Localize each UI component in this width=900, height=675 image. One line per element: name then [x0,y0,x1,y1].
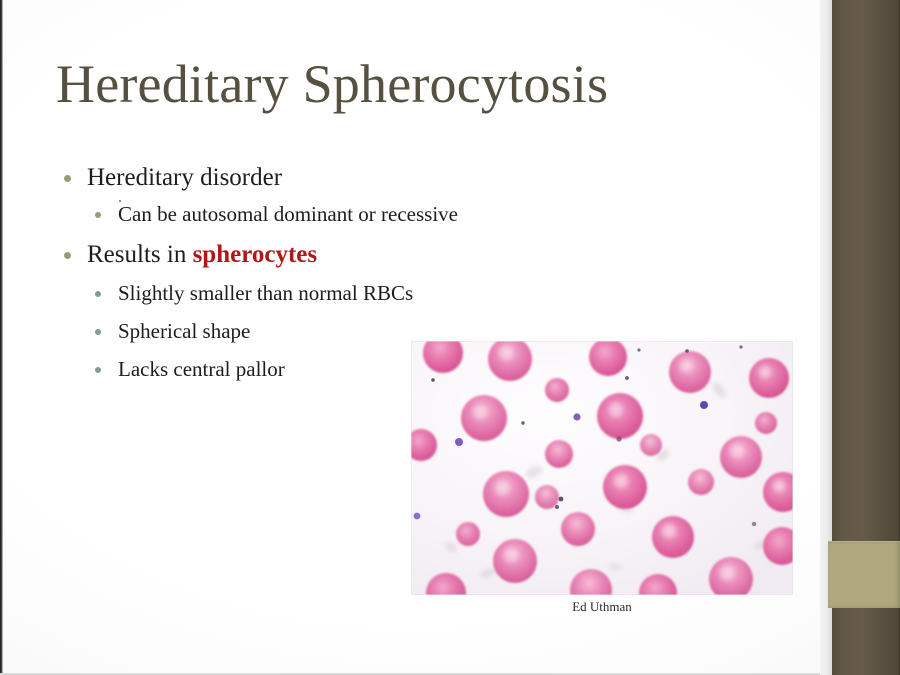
list-item-label: Slightly smaller than normal RBCs [118,281,413,305]
accent-block [828,541,900,608]
round-bullet-icon [95,367,101,373]
list-item-label: Lacks central pallor [118,357,285,381]
emphasis-term: spherocytes [193,241,318,268]
list-item: Can be autosomal dominant or recessive [56,198,796,231]
list-item: Results in spherocytes [56,237,796,273]
list-item-label: Spherical shape [118,319,250,343]
list-item: Hereditary disorder [56,160,796,196]
slide: Hereditary Spherocytosis Hereditary diso… [0,0,900,675]
speck-artifact [119,200,121,202]
slide-left-edge [0,0,3,675]
round-bullet-icon [95,212,101,218]
round-bullet-icon [95,329,101,335]
blood-smear-figure [411,341,793,595]
list-item-label: Hereditary disorder [87,164,282,191]
round-bullet-icon [95,291,101,297]
round-bullet-icon [64,175,71,182]
list-item-label: Can be autosomal dominant or recessive [118,202,458,226]
list-item: Slightly smaller than normal RBCs [56,277,796,310]
blood-smear-image [411,341,793,595]
figure-caption: Ed Uthman [411,598,793,616]
page-title: Hereditary Spherocytosis [56,52,756,116]
list-item-label: Results in [87,241,193,268]
round-bullet-icon [64,252,71,259]
